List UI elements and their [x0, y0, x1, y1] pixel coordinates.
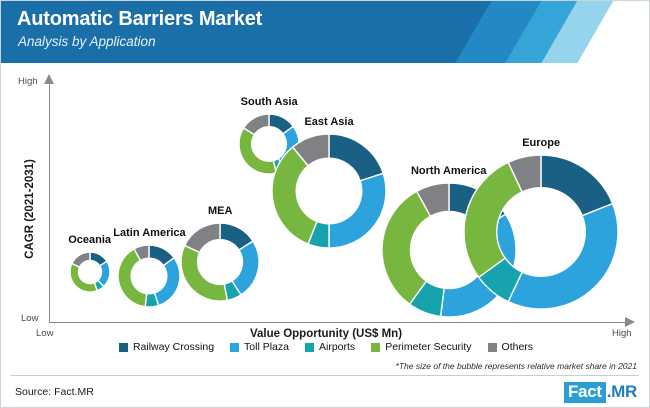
legend-item[interactable]: Toll Plaza [230, 341, 289, 353]
donut-segment[interactable] [185, 223, 220, 252]
header-banner: Automatic Barriers Market Analysis by Ap… [1, 1, 650, 63]
y-axis-label: CAGR (2021-2031) [24, 124, 36, 294]
x-axis-arrow [625, 317, 635, 327]
legend-item-label: Toll Plaza [244, 341, 289, 353]
legend-item[interactable]: Others [488, 341, 534, 353]
bubble-label: Europe [522, 137, 560, 149]
legend-item[interactable]: Railway Crossing [119, 341, 214, 353]
legend-swatch-icon [371, 343, 380, 352]
bubble-latin-america[interactable]: Latin America [115, 242, 183, 310]
factmr-logo: Fact .MR [564, 381, 637, 403]
donut-segment[interactable] [329, 134, 383, 181]
y-axis-arrow [44, 74, 54, 84]
footer-divider [11, 375, 639, 376]
legend-item[interactable]: Perimeter Security [371, 341, 471, 353]
legend-item-label: Perimeter Security [385, 341, 471, 353]
donut-segment[interactable] [541, 155, 613, 216]
y-axis-tick-low: Low [21, 313, 38, 324]
donut-segment[interactable] [181, 246, 227, 302]
bubble-oceania[interactable]: Oceania [67, 249, 113, 295]
plot-area: CAGR (2021-2031) High Low Low High Value… [1, 63, 650, 343]
page-subtitle: Analysis by Application [18, 34, 156, 49]
x-axis-line [49, 322, 627, 323]
legend-swatch-icon [488, 343, 497, 352]
chart-page: Automatic Barriers Market Analysis by Ap… [0, 0, 650, 408]
donut-segment[interactable] [70, 264, 97, 293]
legend: Railway CrossingToll PlazaAirportsPerime… [1, 341, 650, 353]
logo-tail-text: .MR [606, 383, 637, 401]
x-axis-label: Value Opportunity (US$ Mn) [1, 328, 650, 340]
bubble-east-asia[interactable]: East Asia [269, 131, 389, 251]
donut-segment[interactable] [329, 173, 386, 248]
donut-segment[interactable] [508, 203, 618, 308]
donut-segment[interactable] [464, 162, 522, 277]
source-text: Source: Fact.MR [15, 386, 94, 398]
y-axis-tick-high: High [18, 76, 38, 87]
page-title: Automatic Barriers Market [17, 8, 262, 31]
y-axis-line [49, 83, 50, 323]
legend-swatch-icon [119, 343, 128, 352]
logo-main-text: Fact [564, 382, 606, 403]
bubble-europe[interactable]: Europe [461, 152, 621, 312]
chart-footnote: *The size of the bubble represents relat… [396, 361, 637, 371]
legend-swatch-icon [230, 343, 239, 352]
donut-segment[interactable] [155, 258, 180, 306]
bubble-label: Latin America [113, 227, 185, 239]
bubble-label: East Asia [304, 116, 353, 128]
legend-item-label: Others [502, 341, 534, 353]
donut-segment[interactable] [72, 252, 90, 267]
legend-swatch-icon [305, 343, 314, 352]
bubble-mea[interactable]: MEA [178, 220, 262, 304]
bubble-label: South Asia [241, 96, 298, 108]
bubble-label: MEA [208, 205, 232, 217]
legend-item-label: Railway Crossing [133, 341, 214, 353]
bubble-label: Oceania [68, 234, 111, 246]
legend-item[interactable]: Airports [305, 341, 355, 353]
legend-item-label: Airports [319, 341, 355, 353]
